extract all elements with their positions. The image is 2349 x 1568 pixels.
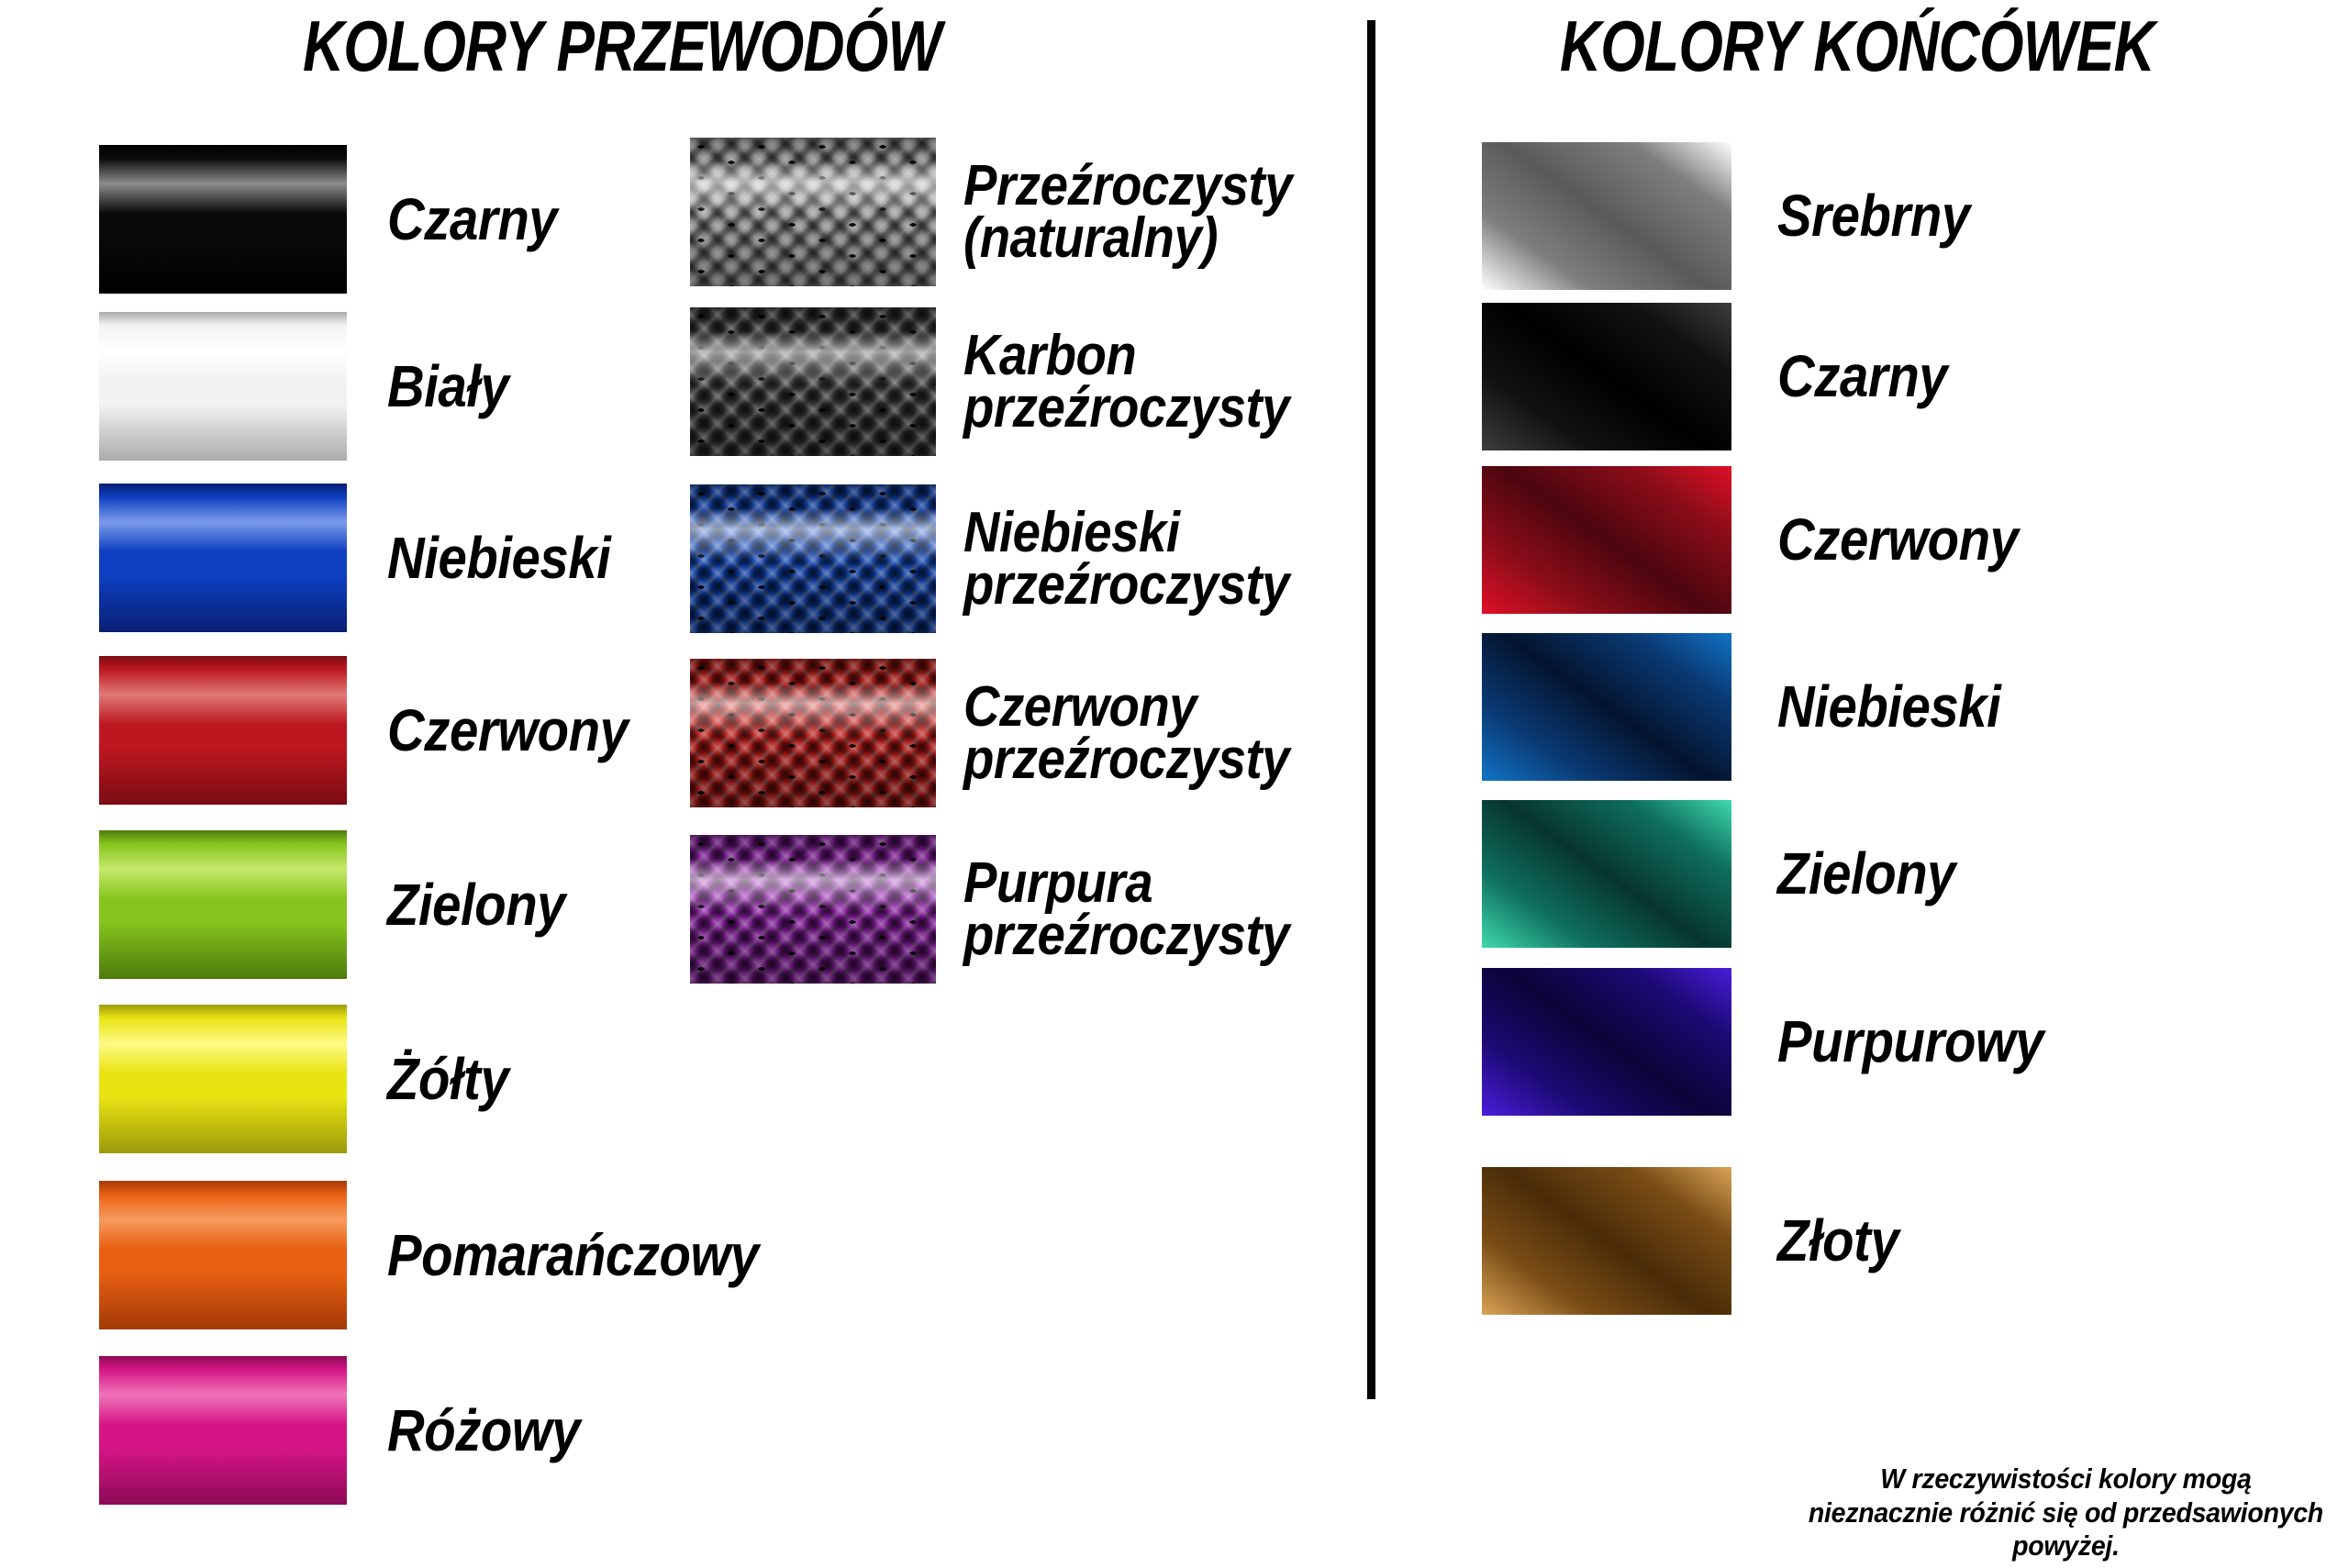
color-name-label: Przeźroczysty (naturalny) [963, 160, 1292, 264]
color-row: Różowy [99, 1356, 607, 1505]
color-row: Czerwony przeźroczysty [690, 659, 1334, 807]
weave-gloss [690, 307, 936, 456]
color-row: Żółty [99, 1005, 525, 1153]
color-name-label: Zielony [387, 878, 565, 932]
color-name-label: Różowy [387, 1404, 580, 1458]
wire-color-swatch [99, 1356, 347, 1505]
weave-gloss [690, 659, 936, 807]
color-name-label: Złoty [1777, 1214, 1898, 1268]
braided-color-swatch [690, 307, 936, 456]
color-name-label: Purpura przeźroczysty [963, 857, 1289, 962]
color-name-label: Karbon przeźroczysty [963, 329, 1289, 434]
page-title-terminals: KOLORY KOŃCÓWEK [1560, 5, 2154, 88]
color-row: Niebieski [99, 484, 641, 632]
terminal-color-swatch [1482, 633, 1731, 781]
color-row: Czerwony [99, 656, 661, 805]
color-name-label: Zielony [1777, 847, 1955, 901]
color-row: Czerwony [1482, 466, 2051, 614]
color-row: Czarny [99, 145, 580, 294]
color-name-label: Czarny [387, 193, 557, 247]
wire-color-swatch [99, 656, 347, 805]
terminal-color-swatch [1482, 466, 1731, 614]
braided-color-swatch [690, 484, 936, 633]
color-row: Złoty [1482, 1167, 1915, 1315]
terminal-color-swatch [1482, 303, 1731, 450]
wire-color-swatch [99, 830, 347, 979]
color-name-label: Czarny [1777, 350, 1947, 404]
color-name-label: Pomarańczowy [387, 1229, 759, 1283]
color-row: Karbon przeźroczysty [690, 307, 1334, 456]
weave-gloss [690, 484, 936, 633]
color-row: Biały [99, 312, 525, 461]
wire-color-swatch [99, 1181, 347, 1329]
color-name-label: Czerwony [387, 704, 628, 758]
color-name-label: Czerwony przeźroczysty [963, 681, 1289, 785]
page-title-wires: KOLORY PRZEWODÓW [303, 5, 941, 88]
color-row: Purpurowy [1482, 968, 2080, 1116]
terminal-color-swatch [1482, 968, 1731, 1116]
wire-color-swatch [99, 145, 347, 294]
weave-gloss [690, 835, 936, 984]
braided-color-swatch [690, 138, 936, 286]
color-name-label: Żółty [387, 1052, 508, 1106]
color-name-label: Czerwony [1777, 513, 2018, 567]
terminal-color-swatch [1482, 142, 1731, 290]
braided-color-swatch [690, 835, 936, 984]
color-row: Zielony [99, 830, 590, 979]
color-row: Czarny [1482, 303, 1970, 450]
column-divider [1367, 20, 1375, 1399]
color-row: Zielony [1482, 800, 1980, 948]
color-row: Pomarańczowy [99, 1181, 809, 1329]
braided-color-swatch [690, 659, 936, 807]
color-row: Srebrny [1482, 142, 1996, 290]
color-name-label: Purpurowy [1777, 1015, 2043, 1069]
wire-color-swatch [99, 484, 347, 632]
color-name-label: Biały [387, 360, 508, 414]
color-name-label: Niebieski przeźroczysty [963, 506, 1289, 611]
disclaimer-text: W rzeczywistości kolory mogą nieznacznie… [1809, 1462, 2323, 1563]
terminal-color-swatch [1482, 1167, 1731, 1315]
color-row: Niebieski [1482, 633, 2032, 781]
color-name-label: Niebieski [1777, 680, 2000, 734]
color-name-label: Srebrny [1777, 189, 1970, 243]
color-row: Purpura przeźroczysty [690, 835, 1334, 984]
color-row: Niebieski przeźroczysty [690, 484, 1334, 633]
weave-gloss [690, 138, 936, 286]
color-row: Przeźroczysty (naturalny) [690, 138, 1337, 286]
wire-color-swatch [99, 1005, 347, 1153]
color-name-label: Niebieski [387, 531, 610, 585]
wire-color-swatch [99, 312, 347, 461]
terminal-color-swatch [1482, 800, 1731, 948]
